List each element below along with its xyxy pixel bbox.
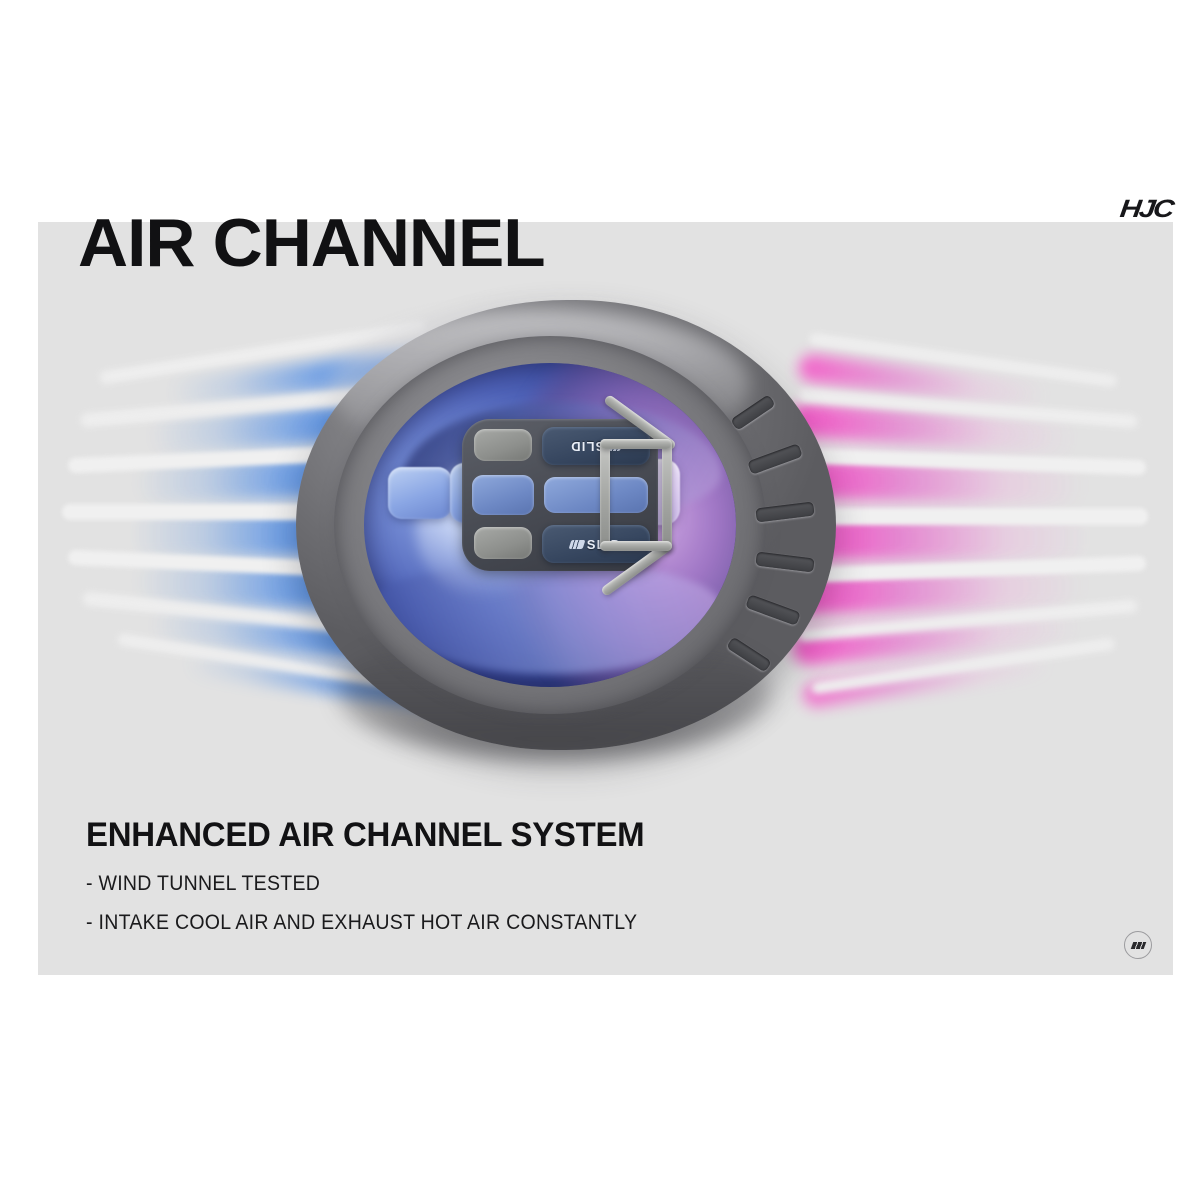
helmet-render: SLID SLID bbox=[296, 300, 836, 750]
pad-cell-mid-left bbox=[472, 475, 534, 515]
watermark-glyph bbox=[1130, 942, 1146, 949]
helmet-air-cavity: SLID SLID bbox=[364, 363, 737, 687]
bracket-cradle-bottom bbox=[600, 541, 672, 551]
pad-cell-top-left bbox=[474, 429, 532, 461]
slide-panel: SLID SLID bbox=[38, 222, 1173, 975]
circular-watermark-icon bbox=[1124, 931, 1152, 959]
pad-cell-bottom-left bbox=[474, 527, 532, 559]
page-title: AIR CHANNEL bbox=[78, 209, 545, 277]
bullet-list: - WIND TUNNEL TESTED - INTAKE COOL AIR A… bbox=[86, 872, 679, 935]
bracket-spine bbox=[662, 439, 672, 551]
bracket-cradle-left bbox=[600, 439, 610, 551]
slid-mark-icon-lower bbox=[568, 540, 585, 549]
section-subtitle: ENHANCED AIR CHANNEL SYSTEM bbox=[86, 818, 661, 854]
footer-text-block: ENHANCED AIR CHANNEL SYSTEM - WIND TUNNE… bbox=[86, 818, 679, 950]
bullet-item-2: - INTAKE COOL AIR AND EXHAUST HOT AIR CO… bbox=[86, 911, 637, 935]
bracket-cradle-top bbox=[600, 439, 672, 449]
slide-page: HJC bbox=[0, 0, 1200, 1200]
hjc-wordmark-icon: HJC bbox=[1118, 195, 1174, 224]
bullet-item-1: - WIND TUNNEL TESTED bbox=[86, 872, 637, 896]
flow-ribbon-right-4 bbox=[786, 508, 1148, 525]
intake-lobe-1 bbox=[388, 467, 452, 519]
retention-bracket bbox=[600, 387, 716, 603]
